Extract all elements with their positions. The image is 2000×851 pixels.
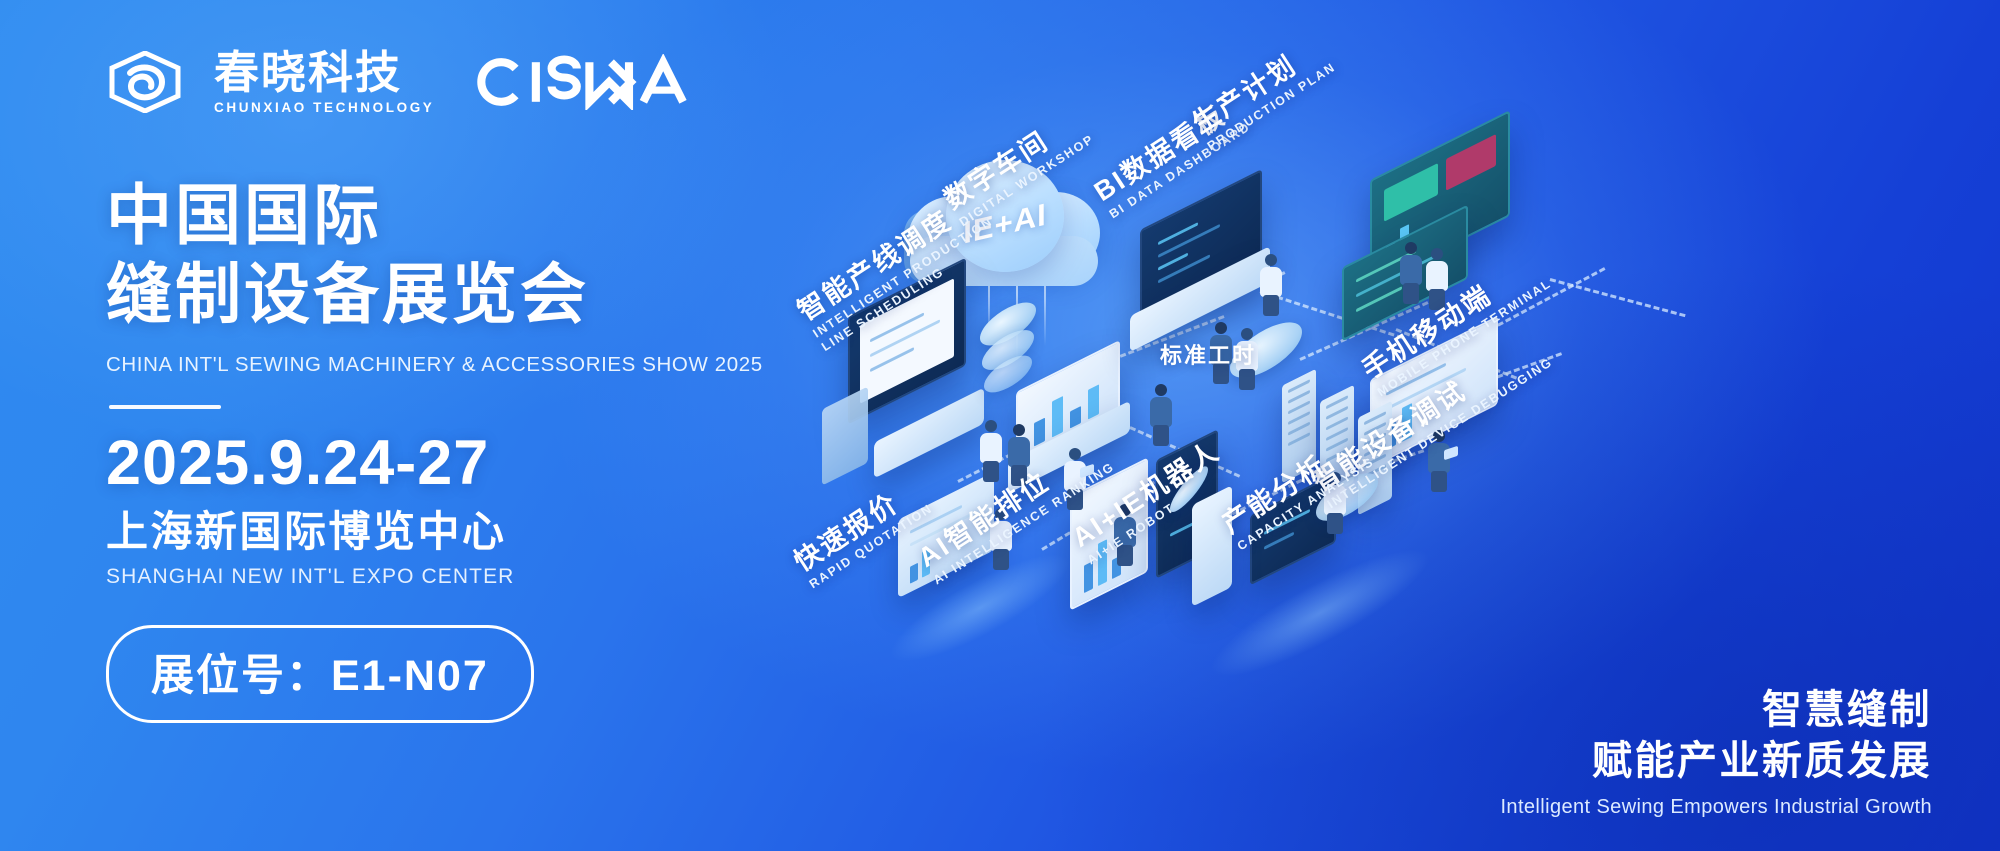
booth-number-text: 展位号：E1-N07 — [151, 641, 489, 703]
left-content-column: 春晓科技 CHUNXIAO TECHNOLOGY 中国国际 缝制设备展览会 CH… — [106, 40, 866, 723]
tagline-line-1: 智慧缝制 — [1500, 685, 1932, 736]
page-title: 中国国际 缝制设备展览会 — [106, 176, 866, 333]
event-date: 2025.9.24-27 — [106, 431, 866, 497]
title-line-2: 缝制设备展览会 — [106, 255, 866, 334]
connector-line — [1550, 278, 1686, 317]
title-line-1: 中国国际 — [106, 176, 866, 255]
person-figure — [1258, 254, 1284, 316]
title-subtitle-en: CHINA INT'L SEWING MACHINERY & ACCESSORI… — [106, 353, 866, 377]
divider-rule — [109, 405, 221, 409]
person-figure — [1398, 242, 1424, 304]
booth-number-badge: 展位号：E1-N07 — [106, 625, 534, 723]
diagram-label-production-plan: 生产计划 PRODUCTION PLAN — [1187, 32, 1339, 154]
promotional-banner: 春晓科技 CHUNXIAO TECHNOLOGY 中国国际 缝制设备展览会 CH… — [0, 0, 2000, 851]
company-name-cn: 春晓科技 — [214, 49, 434, 96]
tagline-line-en: Intelligent Sewing Empowers Industrial G… — [1500, 796, 1932, 819]
venue-name-cn: 上海新国际博览中心 — [106, 507, 866, 557]
tagline-line-2: 赋能产业新质发展 — [1500, 736, 1932, 787]
chunxiao-wordmark: 春晓科技 CHUNXIAO TECHNOLOGY — [214, 49, 434, 114]
company-name-en: CHUNXIAO TECHNOLOGY — [214, 100, 434, 115]
person-figure — [1148, 384, 1174, 446]
diagram-label-standard-hours: 标准工时 — [1160, 338, 1256, 370]
tagline-block: 智慧缝制 赋能产业新质发展 Intelligent Sewing Empower… — [1500, 685, 1932, 819]
venue-name-en: SHANGHAI NEW INT'L EXPO CENTER — [106, 565, 866, 589]
cisma-logo — [476, 54, 728, 110]
isometric-illustration: IE+AI — [830, 28, 2000, 748]
person-figure — [978, 420, 1004, 482]
chunxiao-eye-mark-icon — [106, 51, 184, 113]
logo-row: 春晓科技 CHUNXIAO TECHNOLOGY — [106, 40, 866, 124]
robot-unit — [1192, 485, 1232, 607]
